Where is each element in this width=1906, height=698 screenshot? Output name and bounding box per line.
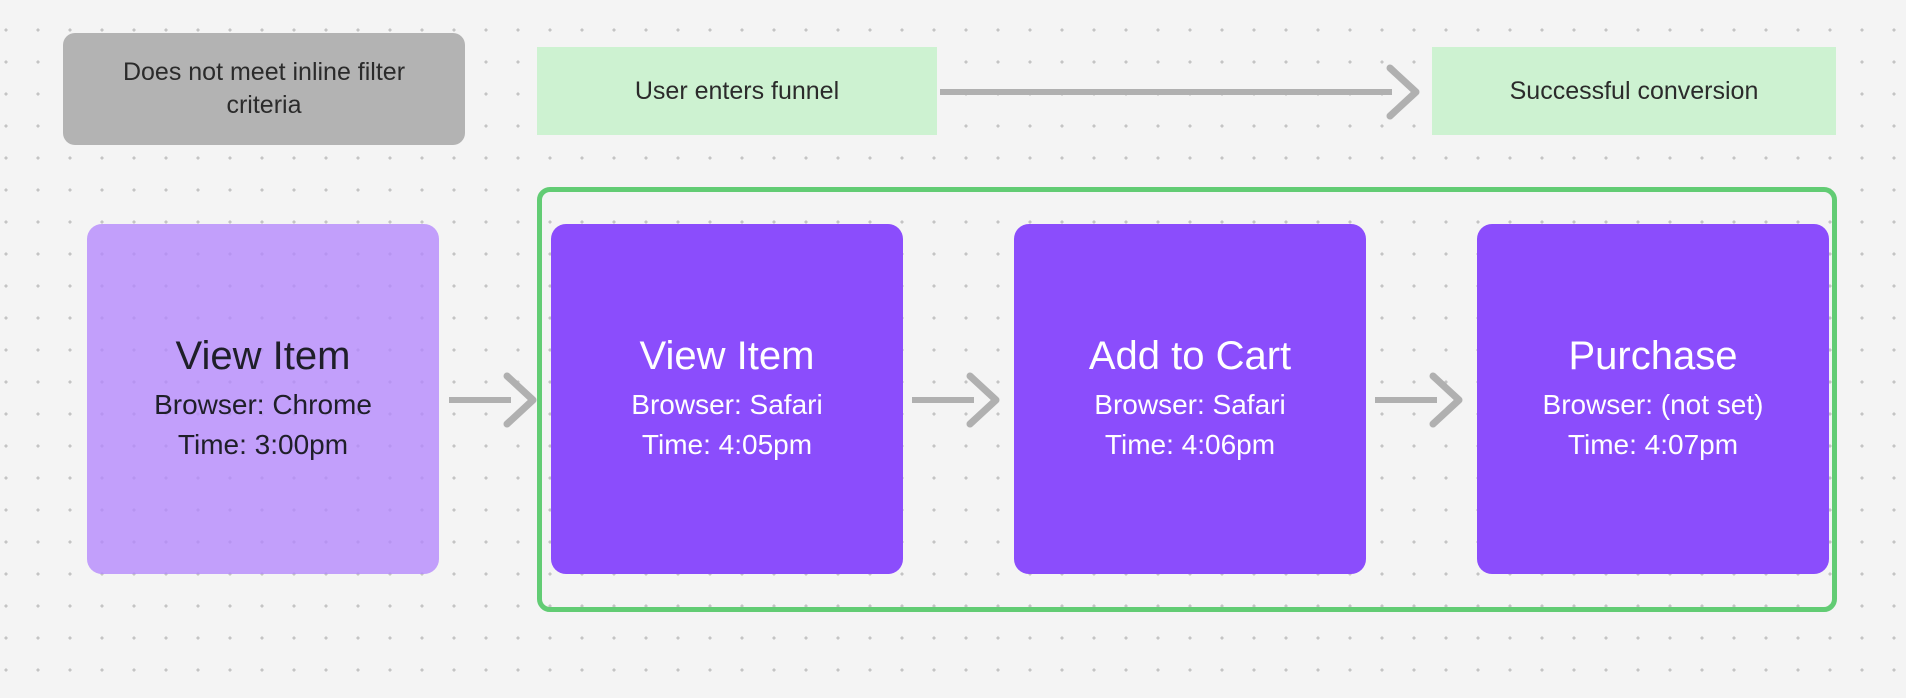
event-title: View Item <box>176 333 351 379</box>
event-card-excluded[interactable]: View Item Browser: Chrome Time: 3:00pm <box>87 224 439 574</box>
event-card-step-2[interactable]: Add to Cart Browser: Safari Time: 4:06pm <box>1014 224 1366 574</box>
event-browser: Browser: Safari <box>1094 385 1285 425</box>
event-card-step-3[interactable]: Purchase Browser: (not set) Time: 4:07pm <box>1477 224 1829 574</box>
event-browser: Browser: Safari <box>631 385 822 425</box>
legend-success-label: Successful conversion <box>1510 75 1759 108</box>
event-title: Purchase <box>1569 333 1738 379</box>
legend-successful-conversion: Successful conversion <box>1432 47 1836 135</box>
event-time: Time: 4:05pm <box>642 425 812 465</box>
step-arrow-icon <box>449 372 541 428</box>
event-browser: Browser: (not set) <box>1543 385 1764 425</box>
diagram-canvas: Does not meet inline filter criteria Use… <box>0 0 1906 698</box>
event-time: Time: 4:06pm <box>1105 425 1275 465</box>
conversion-flow-arrow-icon <box>940 62 1426 122</box>
legend-excluded-label: Does not meet inline filter criteria <box>91 56 437 122</box>
legend-user-enters-funnel: User enters funnel <box>537 47 937 135</box>
step-arrow-icon <box>912 372 1004 428</box>
event-time: Time: 3:00pm <box>178 425 348 465</box>
step-arrow-icon <box>1375 372 1467 428</box>
event-browser: Browser: Chrome <box>154 385 372 425</box>
event-title: View Item <box>640 333 815 379</box>
legend-enters-funnel-label: User enters funnel <box>635 75 839 108</box>
legend-excluded-criteria: Does not meet inline filter criteria <box>63 33 465 145</box>
event-card-step-1[interactable]: View Item Browser: Safari Time: 4:05pm <box>551 224 903 574</box>
event-time: Time: 4:07pm <box>1568 425 1738 465</box>
event-title: Add to Cart <box>1089 333 1291 379</box>
